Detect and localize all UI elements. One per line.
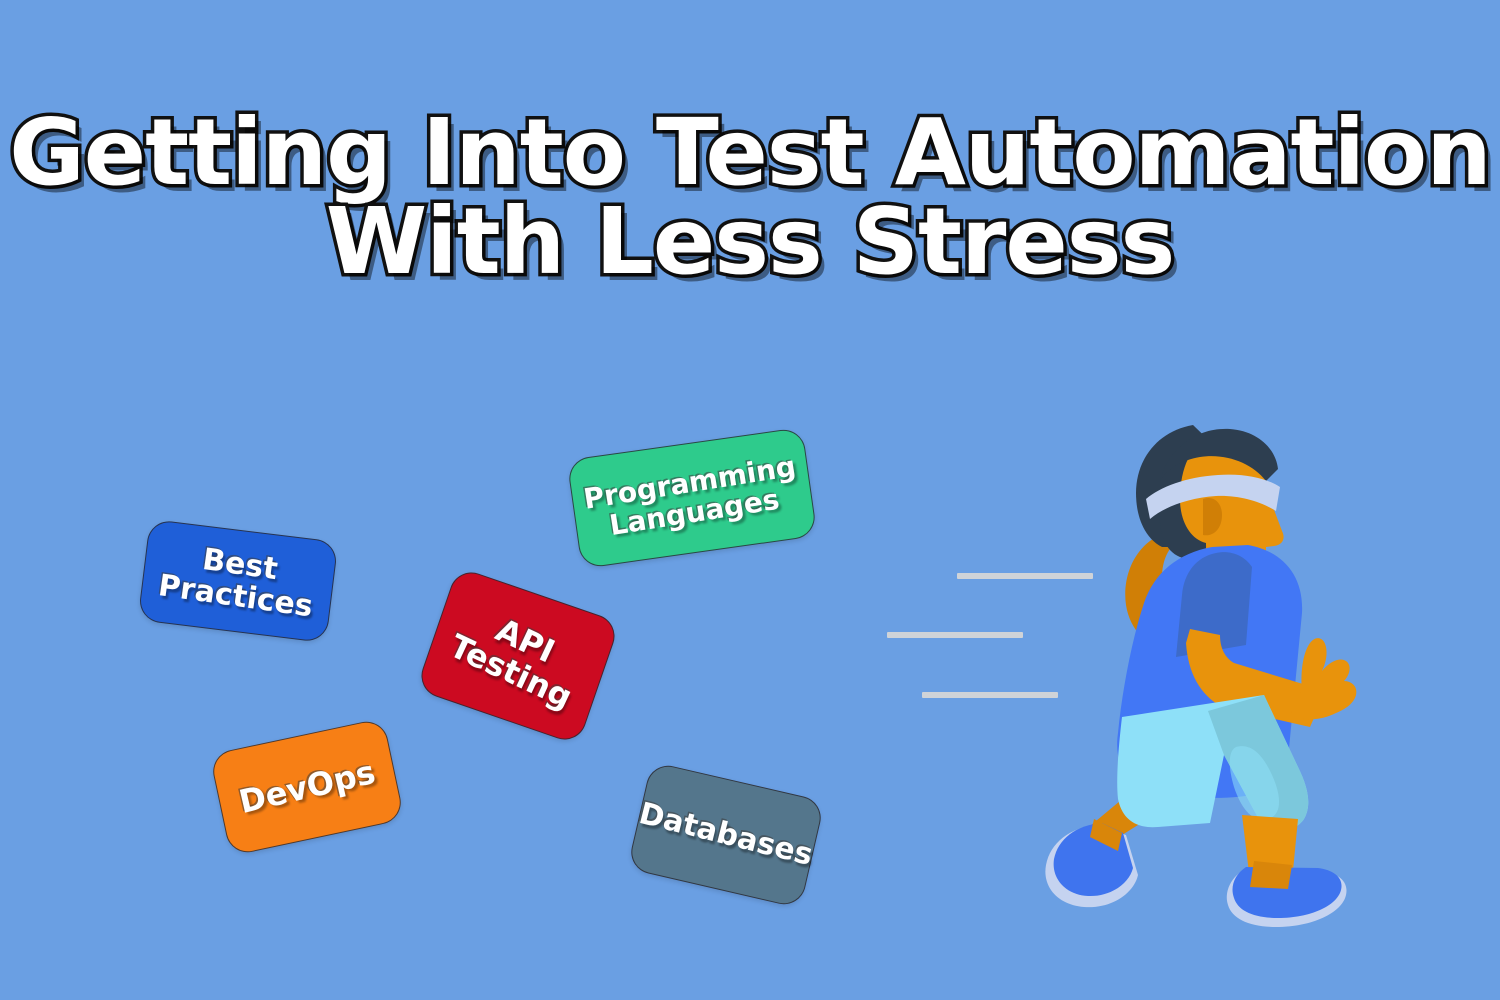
topic-card-databases[interactable]: Databases <box>627 761 825 908</box>
topic-card-label: API Testing <box>444 597 591 714</box>
topic-card-label: Programming Languages <box>582 452 803 545</box>
topic-card-best-practices[interactable]: Best Practices <box>137 519 338 643</box>
title-line-2: With Less Stress <box>0 197 1500 286</box>
running-person-illustration <box>1010 395 1370 935</box>
topic-card-api-testing[interactable]: API Testing <box>416 567 621 746</box>
topic-card-label: Databases <box>636 798 816 872</box>
speed-line <box>887 632 1023 638</box>
runner-fist <box>1291 638 1357 719</box>
topic-card-devops[interactable]: DevOps <box>209 718 405 857</box>
runner-front-shoe <box>1227 861 1347 927</box>
title-line-1: Getting Into Test Automation <box>0 108 1500 197</box>
topic-card-label: DevOps <box>236 755 378 819</box>
poster-canvas: Getting Into Test Automation With Less S… <box>0 0 1500 1000</box>
topic-card-programming-languages[interactable]: Programming Languages <box>567 427 818 569</box>
page-title: Getting Into Test Automation With Less S… <box>0 108 1500 286</box>
topic-card-label: Best Practices <box>157 538 320 623</box>
